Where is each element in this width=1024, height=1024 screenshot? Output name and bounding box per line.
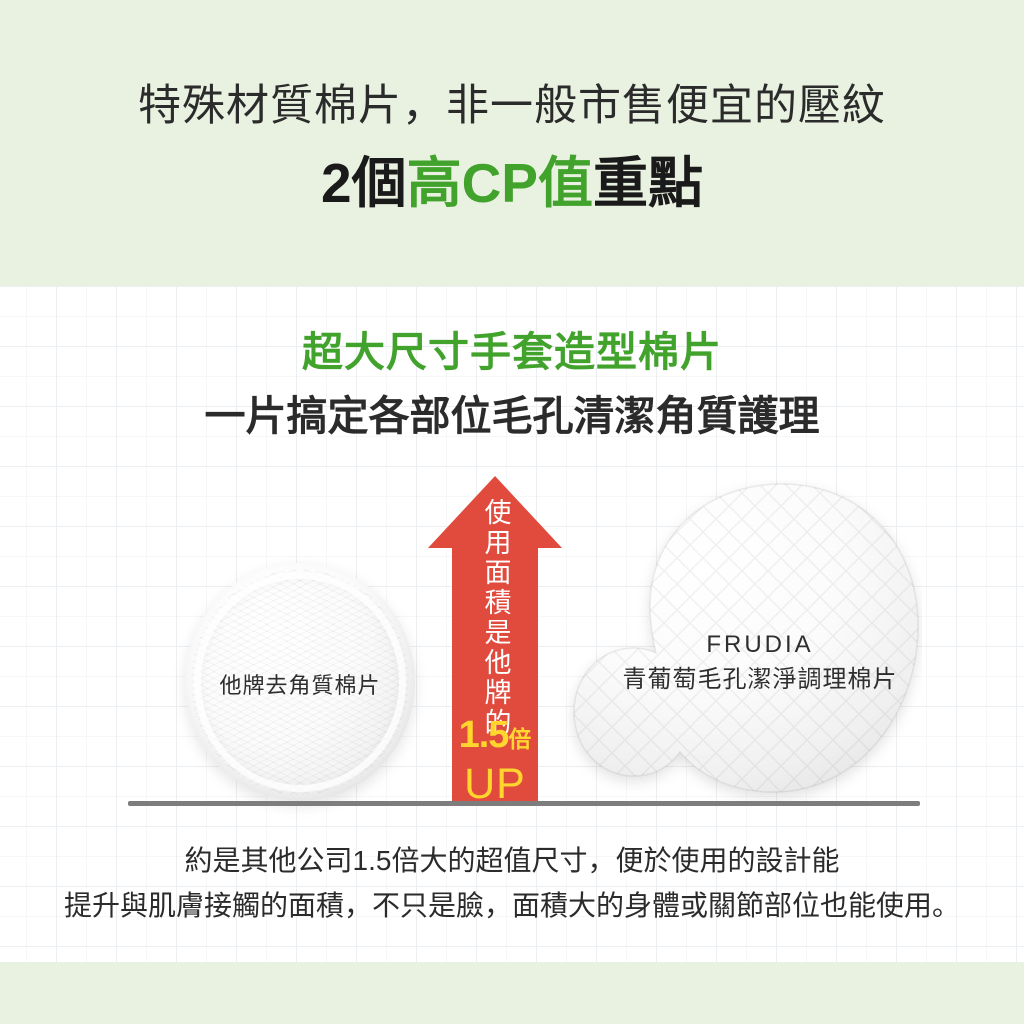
headline-title: 2個高CP值重點 (0, 152, 1024, 215)
frudia-brand-label: FRUDIA (600, 628, 920, 663)
competitor-pad-label: 他牌去角質棉片 (185, 668, 415, 700)
ground-baseline (128, 801, 920, 806)
frudia-glove-pad: FRUDIA 青葡萄毛孔潔淨調理棉片 (560, 480, 922, 801)
arrow-multiplier: 1.5倍 (420, 714, 570, 757)
arrow-multiplier-value: 1.5 (459, 714, 509, 756)
footer-line-1: 約是其他公司1.5倍大的超值尺寸，便於使用的設計能 (0, 838, 1024, 883)
bottom-banner (0, 962, 1024, 1024)
headline-title-highlight: 高CP值 (407, 152, 593, 214)
footer-line-2: 提升與肌膚接觸的面積，不只是臉，面積大的身體或關節部位也能使用。 (0, 883, 1024, 928)
comparison-stage: 他牌去角質棉片 (0, 460, 1024, 810)
frudia-product-label: 青葡萄毛孔潔淨調理棉片 (600, 663, 920, 698)
arrow-vertical-text: 使用面積是他牌的 (420, 498, 570, 738)
up-arrow-callout: 使用面積是他牌的 1.5倍 UP (420, 472, 570, 806)
headline-title-prefix: 2個 (321, 152, 407, 214)
section-heading-dark: 一片搞定各部位毛孔清潔角質護理 (0, 382, 1024, 442)
top-banner (0, 0, 1024, 286)
footer-description: 約是其他公司1.5倍大的超值尺寸，便於使用的設計能 提升與肌膚接觸的面積，不只是… (0, 838, 1024, 929)
headline-subtitle: 特殊材質棉片，非一般市售便宜的壓紋 (0, 82, 1024, 131)
arrow-vertical-text-value: 使用面積是他牌的 (482, 498, 509, 738)
promo-page: 特殊材質棉片，非一般市售便宜的壓紋 2個高CP值重點 超大尺寸手套造型棉片 一片… (0, 0, 1024, 1024)
headline-title-suffix: 重點 (593, 152, 703, 214)
frudia-pad-label-group: FRUDIA 青葡萄毛孔潔淨調理棉片 (600, 628, 920, 698)
competitor-cotton-pad: 他牌去角質棉片 (185, 563, 415, 801)
arrow-multiplier-unit: 倍 (508, 726, 531, 752)
section-heading-green: 超大尺寸手套造型棉片 (0, 318, 1024, 378)
